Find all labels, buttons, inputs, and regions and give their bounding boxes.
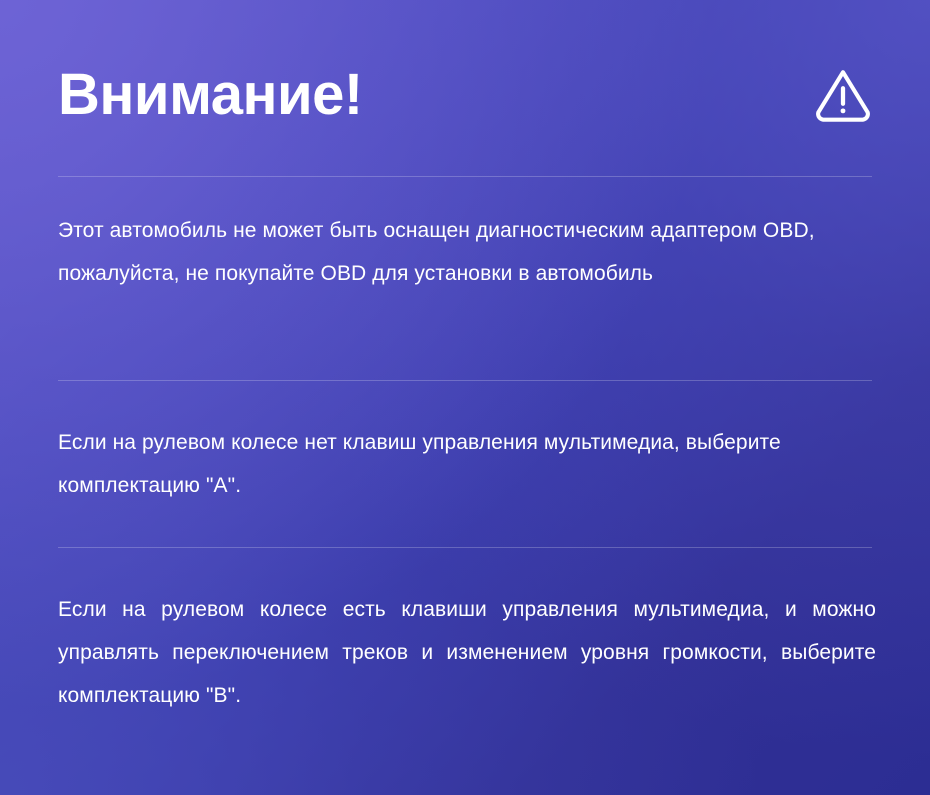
notice-text-trim-a: Если на рулевом колесе нет клавиш управл… — [58, 421, 876, 507]
notice-block-trim-a: Если на рулевом колесе нет клавиш управл… — [58, 421, 876, 507]
section-divider-2 — [58, 380, 872, 381]
notice-text-trim-b: Если на рулевом колесе есть клавиши упра… — [58, 588, 876, 717]
warning-banner: Внимание! Этот автомобиль не может быть … — [0, 0, 930, 795]
section-divider-3 — [58, 547, 872, 548]
page-title: Внимание! — [58, 63, 363, 127]
notice-block-trim-b: Если на рулевом колесе есть клавиши упра… — [58, 588, 876, 717]
notice-block-obd: Этот автомобиль не может быть оснащен ди… — [58, 209, 876, 295]
banner-header: Внимание! — [58, 52, 878, 138]
section-divider-1 — [58, 176, 872, 177]
warning-triangle-icon — [812, 64, 878, 126]
notice-text-obd: Этот автомобиль не может быть оснащен ди… — [58, 209, 876, 295]
